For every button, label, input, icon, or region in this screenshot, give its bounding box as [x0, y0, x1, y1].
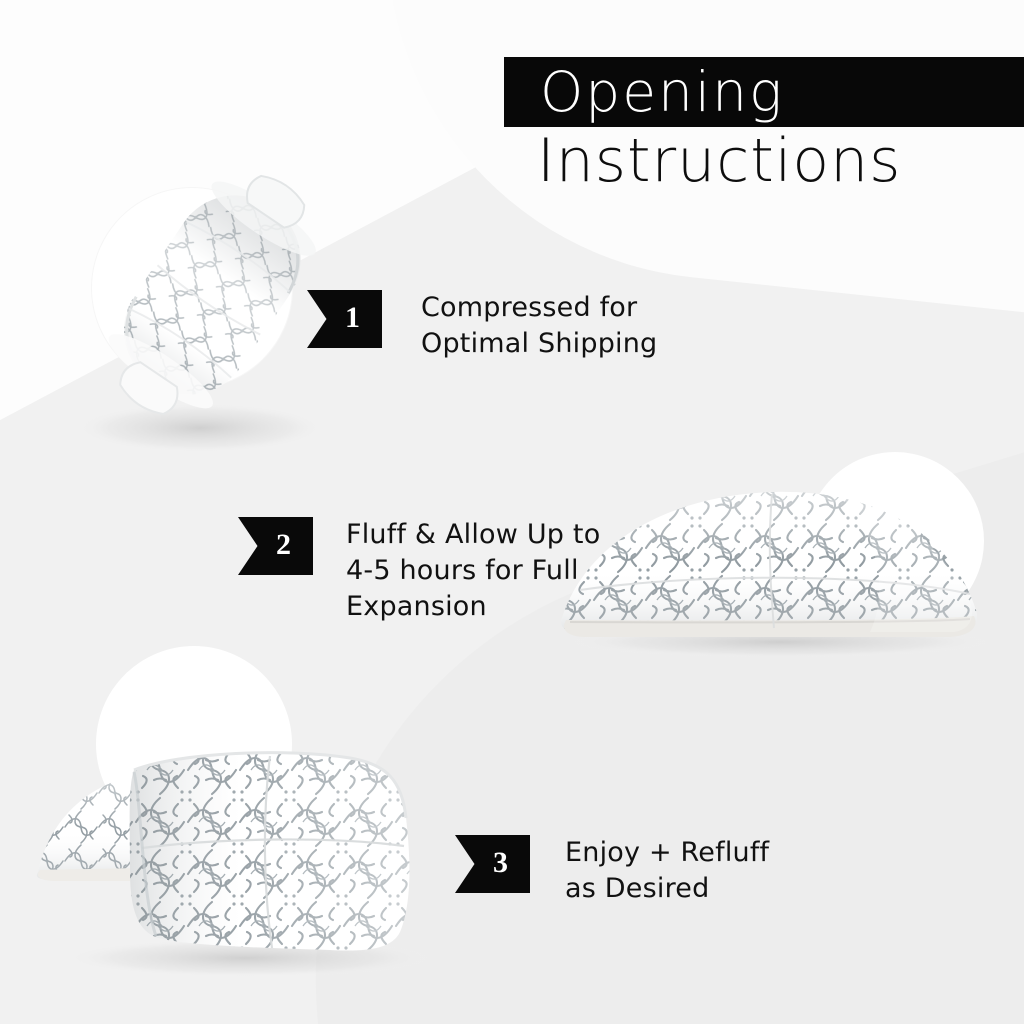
step-badge-3: 3 — [455, 835, 530, 893]
step-item-2: 2 Fluff & Allow Up to 4-5 hours for Full… — [238, 517, 600, 625]
instruction-graphic: Opening Instructions 1 Compressed for Op… — [0, 0, 1024, 1024]
two-fluffed-pillows-image — [30, 640, 450, 980]
partially-expanded-pillow-image — [540, 470, 1000, 660]
step-label-3: Enjoy + Refluff as Desired — [565, 835, 769, 907]
step-number-1: 1 — [345, 303, 360, 333]
step-number-3: 3 — [493, 848, 508, 878]
page-title-primary: Opening — [522, 58, 1024, 126]
page-title-secondary: Instructions — [537, 125, 1024, 197]
step-badge-1: 1 — [307, 290, 382, 348]
step-item-1: 1 Compressed for Optimal Shipping — [307, 290, 657, 362]
step-number-2: 2 — [276, 530, 291, 560]
front-pillow — [130, 753, 410, 951]
step-label-1: Compressed for Optimal Shipping — [421, 290, 657, 362]
step-badge-2: 2 — [238, 517, 313, 575]
step-label-2: Fluff & Allow Up to 4-5 hours for Full E… — [346, 517, 600, 625]
step-item-3: 3 Enjoy + Refluff as Desired — [455, 835, 769, 907]
